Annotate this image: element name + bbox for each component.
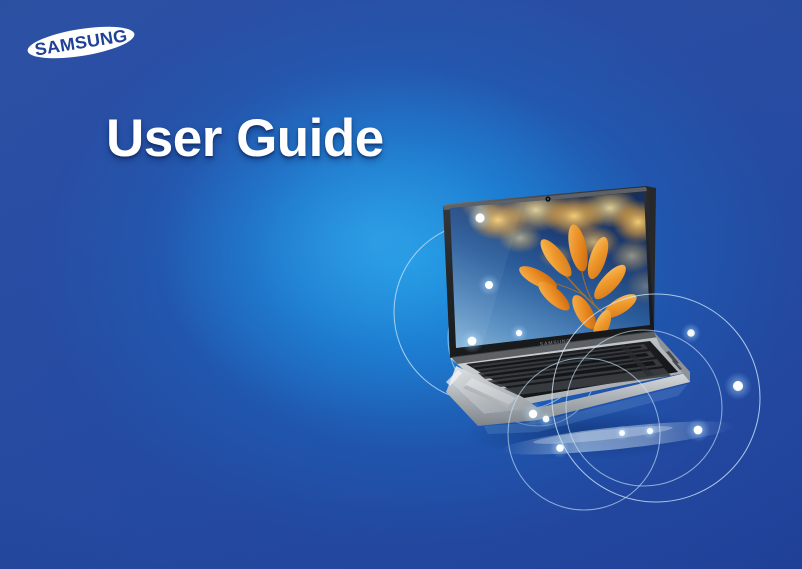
background-vignette (0, 0, 802, 569)
user-guide-cover: SAMSUNG User Guide (0, 0, 802, 569)
